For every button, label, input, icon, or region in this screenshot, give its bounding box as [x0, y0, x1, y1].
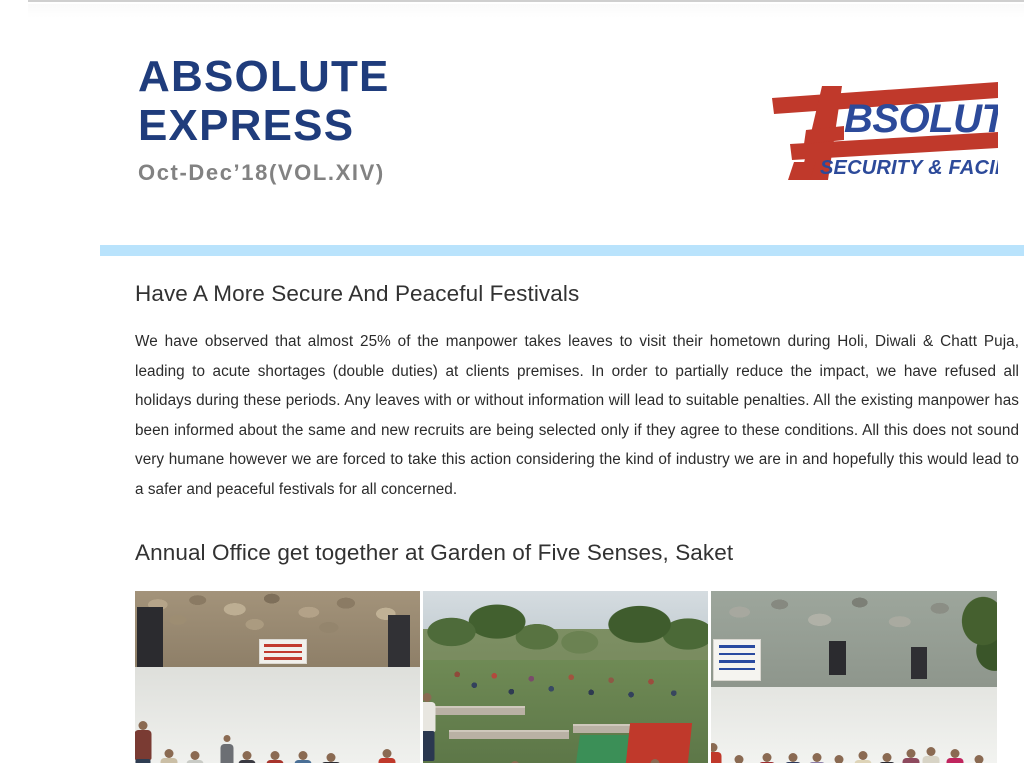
speaker-right [911, 647, 927, 679]
svg-text:BSOLUTE: BSOLUTE [844, 97, 998, 141]
stage-floor [135, 667, 420, 763]
seated-audience [423, 660, 708, 732]
gallery-photo-women-lineup [711, 591, 997, 763]
red-carpet [626, 723, 692, 763]
article-body-festivals: We have observed that almost 25% of the … [135, 327, 1019, 504]
article-heading-festivals: Have A More Secure And Peaceful Festival… [135, 280, 1019, 308]
article-content: Have A More Secure And Peaceful Festival… [135, 280, 1019, 567]
document-sheet: ABSOLUTE EXPRESS Oct-Dec’18(VOL.XIV) BSO… [28, 0, 1024, 761]
absolute-logo-icon: BSOLUTE SECURITY & FACILITY [758, 70, 998, 185]
masthead-text-block: ABSOLUTE EXPRESS Oct-Dec’18(VOL.XIV) [138, 52, 390, 186]
article-heading-wrap: Annual Office get together at Garden of … [135, 539, 1019, 567]
speaker-left [829, 641, 846, 675]
issue-label: Oct-Dec’18(VOL.XIV) [138, 160, 390, 186]
svg-text:SECURITY & FACILITY: SECURITY & FACILITY [820, 157, 998, 179]
masthead: ABSOLUTE EXPRESS Oct-Dec’18(VOL.XIV) BSO… [110, 52, 1010, 227]
tree-line [423, 594, 708, 663]
article-heading-get-together: Annual Office get together at Garden of … [135, 539, 1019, 567]
gallery-photo-group-pose [135, 591, 420, 763]
page-canvas: ABSOLUTE EXPRESS Oct-Dec’18(VOL.XIV) BSO… [0, 0, 1024, 761]
gallery-photo-amphitheatre-crowd [423, 591, 708, 763]
event-banner [259, 639, 307, 664]
tree-foliage [951, 591, 997, 691]
company-logo: BSOLUTE SECURITY & FACILITY [758, 70, 998, 185]
welcome-banner [713, 639, 761, 681]
speaker-left [137, 607, 163, 673]
photo-gallery [135, 591, 997, 763]
newsletter-title: ABSOLUTE EXPRESS [138, 52, 390, 151]
header-divider [100, 245, 1024, 256]
